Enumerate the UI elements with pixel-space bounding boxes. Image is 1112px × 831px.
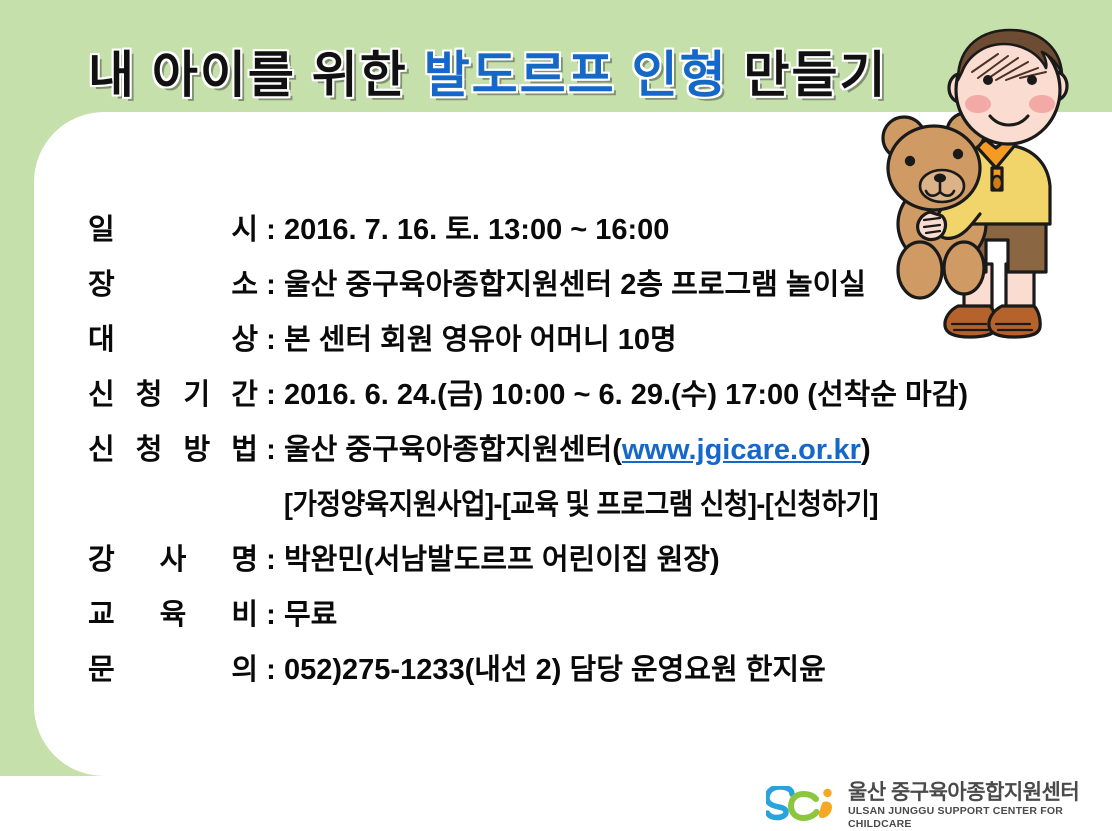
label-char: 기 <box>184 371 211 413</box>
label-char: 청 <box>136 371 163 413</box>
row-colon: : <box>258 269 284 302</box>
label-char: 장 <box>88 261 115 303</box>
row-value: 박완민(서남발도르프 어린이집 원장) <box>284 536 1048 578</box>
label-char: 신 <box>88 371 115 413</box>
label-char: 사 <box>160 536 187 578</box>
logo-text-block: 울산 중구육아종합지원센터 ULSAN JUNGGU SUPPORT CENTE… <box>848 781 1096 831</box>
row-colon: : <box>258 654 284 687</box>
detail-row-contact: 문 의 : 052)275-1233(내선 2) 담당 운영요원 한지윤 <box>88 646 1048 701</box>
row-colon: : <box>258 544 284 577</box>
row-label: 신 청 방 법 <box>88 426 258 468</box>
row-value: 052)275-1233(내선 2) 담당 운영요원 한지윤 <box>284 646 1048 688</box>
navigation-path-text: [가정양육지원사업]-[교육 및 프로그램 신청]-[신청하기] <box>284 481 878 536</box>
title-suffix: 만들기 <box>728 47 888 103</box>
label-char: 방 <box>184 426 211 468</box>
label-char: 문 <box>88 646 115 688</box>
detail-row-fee: 교 육 비 : 무료 <box>88 591 1048 646</box>
label-char: 의 <box>231 646 258 688</box>
row-label: 대 상 <box>88 316 258 358</box>
detail-row-instructor: 강 사 명 : 박완민(서남발도르프 어린이집 원장) <box>88 536 1048 591</box>
label-char: 육 <box>160 591 187 633</box>
label-char: 신 <box>88 426 115 468</box>
footer-logo: 울산 중구육아종합지원센터 ULSAN JUNGGU SUPPORT CENTE… <box>766 784 1096 828</box>
row-colon: : <box>258 214 284 247</box>
row-label: 일 시 <box>88 206 258 248</box>
website-link[interactable]: www.jgicare.or.kr <box>622 434 861 466</box>
label-char: 소 <box>231 261 258 303</box>
label-char: 비 <box>231 591 258 633</box>
detail-row-application-period: 신 청 기 간 : 2016. 6. 24.(금) 10:00 ~ 6. 29.… <box>88 371 1048 426</box>
label-char: 대 <box>88 316 115 358</box>
center-logo-icon <box>766 786 838 826</box>
method-prefix: 울산 중구육아종합지원센터( <box>284 434 622 466</box>
label-char: 상 <box>231 316 258 358</box>
title-prefix: 내 아이를 위한 <box>88 47 424 103</box>
indent-spacer <box>88 481 284 536</box>
row-colon: : <box>258 599 284 632</box>
row-label: 장 소 <box>88 261 258 303</box>
row-label: 신 청 기 간 <box>88 371 258 413</box>
row-value: 2016. 6. 24.(금) 10:00 ~ 6. 29.(수) 17:00 … <box>284 371 1048 413</box>
boy-holding-teddy-bear-illustration <box>880 28 1090 358</box>
label-char: 법 <box>231 426 258 468</box>
detail-row-application-method: 신 청 방 법 : 울산 중구육아종합지원센터(www.jgicare.or.k… <box>88 426 1048 481</box>
method-suffix: ) <box>861 434 871 466</box>
row-label: 교 육 비 <box>88 591 258 633</box>
title-highlight: 발도르프 인형 <box>424 47 728 103</box>
row-colon: : <box>258 434 284 467</box>
detail-row-navigation-path: [가정양육지원사업]-[교육 및 프로그램 신청]-[신청하기] <box>88 481 1048 536</box>
row-colon: : <box>258 379 284 412</box>
row-colon: : <box>258 324 284 357</box>
poster-title: 내 아이를 위한 발도르프 인형 만들기 <box>88 44 968 106</box>
label-char: 시 <box>231 206 258 248</box>
label-char: 청 <box>136 426 163 468</box>
label-char: 간 <box>231 371 258 413</box>
label-char: 일 <box>88 206 115 248</box>
logo-korean-name: 울산 중구육아종합지원센터 <box>848 781 1096 805</box>
logo-english-name: ULSAN JUNGGU SUPPORT CENTER FOR CHILDCAR… <box>848 805 1096 831</box>
row-label: 강 사 명 <box>88 536 258 578</box>
row-value: 울산 중구육아종합지원센터(www.jgicare.or.kr) <box>284 426 1048 468</box>
row-label: 문 의 <box>88 646 258 688</box>
label-char: 교 <box>88 591 115 633</box>
label-char: 강 <box>88 536 115 578</box>
poster-root: 내 아이를 위한 발도르프 인형 만들기 일 시 : 2016. 7. 16. … <box>0 0 1112 830</box>
label-char: 명 <box>231 536 258 578</box>
row-value: 무료 <box>284 591 1048 633</box>
